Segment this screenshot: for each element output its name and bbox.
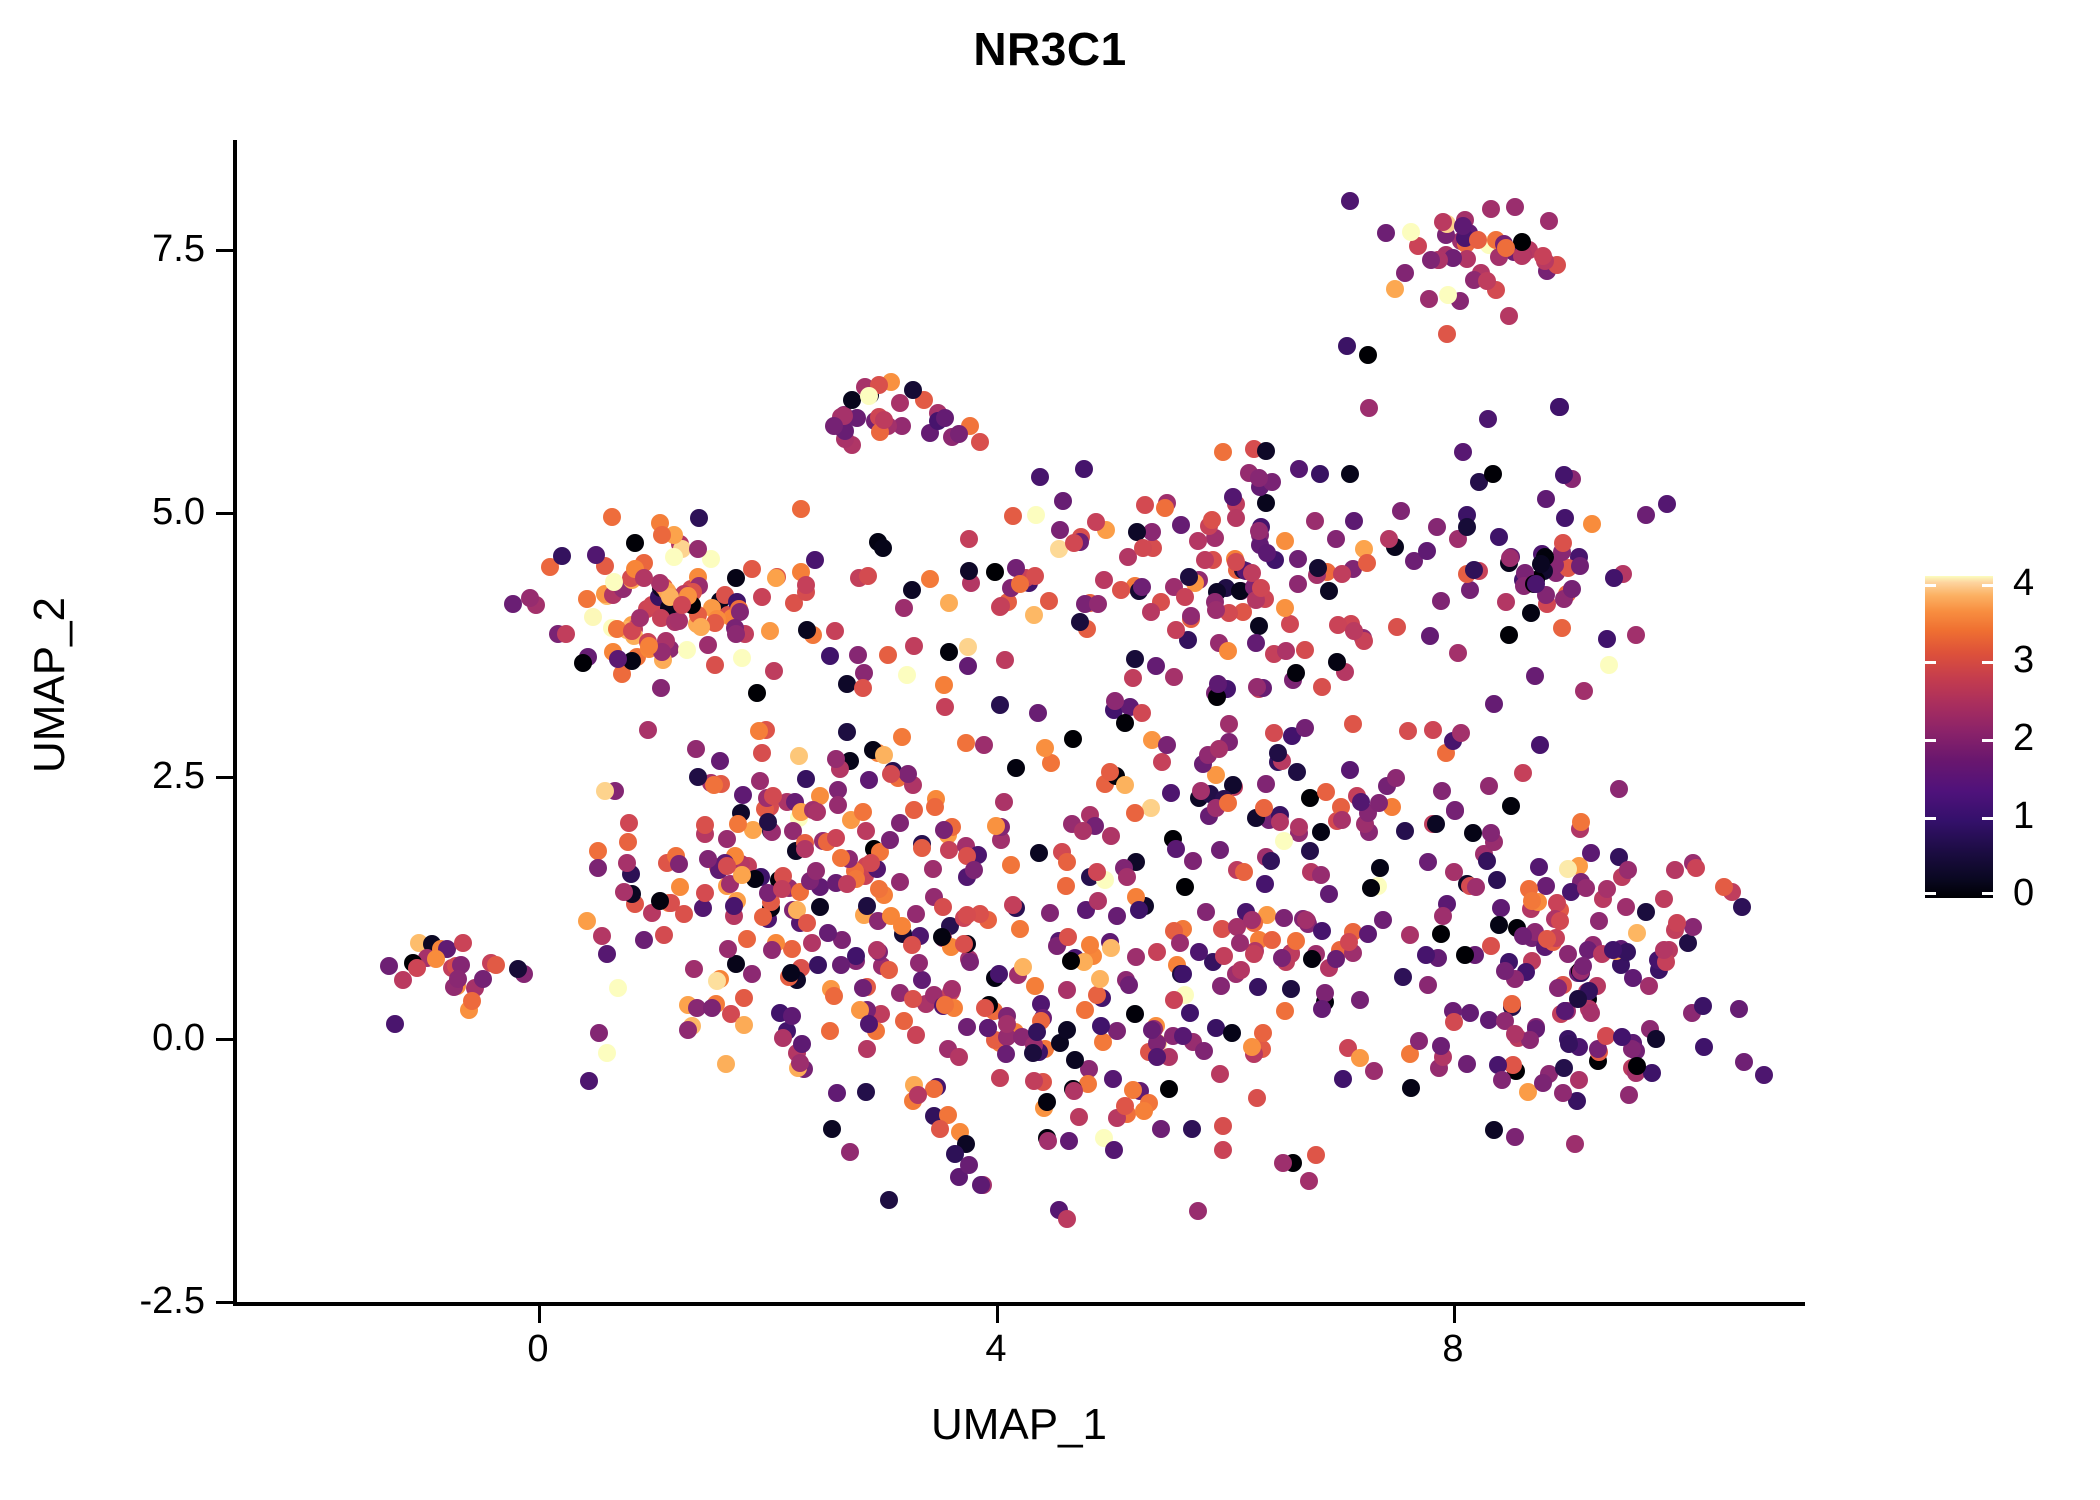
scatter-point — [1449, 644, 1467, 662]
scatter-point — [609, 979, 627, 997]
scatter-point — [620, 814, 638, 832]
scatter-point — [808, 803, 826, 821]
scatter-point — [1359, 925, 1377, 943]
scatter-point — [1365, 1062, 1383, 1080]
scatter-point — [1465, 561, 1483, 579]
scatter-point — [454, 934, 472, 952]
scatter-point — [1582, 1004, 1600, 1022]
scatter-point — [1540, 212, 1558, 230]
scatter-point — [1289, 550, 1307, 568]
scatter-point — [751, 772, 769, 790]
scatter-point — [759, 813, 777, 831]
scatter-point — [1133, 578, 1151, 596]
scatter-point — [1554, 534, 1572, 552]
scatter-point — [1112, 581, 1130, 599]
y-axis-tick-7.5 — [216, 249, 233, 252]
scatter-point — [1116, 776, 1134, 794]
scatter-point — [1136, 496, 1154, 514]
scatter-point — [1402, 1079, 1420, 1097]
scatter-point — [1289, 575, 1307, 593]
scatter-point — [1467, 878, 1485, 896]
scatter-point — [1051, 521, 1069, 539]
scatter-point — [1181, 1004, 1199, 1022]
colorbar-tick-0-right — [1982, 892, 1993, 895]
scatter-point — [1360, 399, 1378, 417]
scatter-point — [1345, 622, 1363, 640]
scatter-point — [474, 970, 492, 988]
scatter-point — [1167, 621, 1185, 639]
scatter-point — [1276, 1002, 1294, 1020]
scatter-point — [1461, 581, 1479, 599]
scatter-point — [1211, 1065, 1229, 1083]
scatter-point — [1502, 797, 1520, 815]
scatter-point — [841, 1143, 859, 1161]
scatter-point — [1530, 858, 1548, 876]
scatter-point — [631, 609, 649, 627]
scatter-point — [1640, 977, 1658, 995]
scatter-point — [1243, 1038, 1261, 1056]
scatter-point — [1309, 559, 1327, 577]
scatter-point — [1434, 213, 1452, 231]
scatter-point — [797, 770, 815, 788]
scatter-point — [1196, 551, 1214, 569]
scatter-point — [1488, 871, 1506, 889]
scatter-point — [921, 570, 939, 588]
scatter-point — [961, 953, 979, 971]
scatter-point — [905, 637, 923, 655]
scatter-point — [765, 662, 783, 680]
scatter-point — [1338, 337, 1356, 355]
scatter-point — [1214, 1141, 1232, 1159]
scatter-point — [1556, 509, 1574, 527]
scatter-point — [1287, 932, 1305, 950]
scatter-point — [1345, 512, 1363, 530]
scatter-point — [1482, 200, 1500, 218]
scatter-point — [1207, 1019, 1225, 1037]
scatter-point — [1105, 1141, 1123, 1159]
scatter-point — [860, 387, 878, 405]
scatter-point — [828, 1084, 846, 1102]
scatter-point — [1209, 675, 1227, 693]
scatter-point — [1313, 922, 1331, 940]
scatter-point — [1143, 523, 1161, 541]
scatter-point — [1387, 769, 1405, 787]
scatter-point — [825, 417, 843, 435]
scatter-point — [1275, 909, 1293, 927]
scatter-point — [1184, 852, 1202, 870]
scatter-point — [1075, 460, 1093, 478]
scatter-point — [854, 803, 872, 821]
x-axis-ticklabel-4: 4 — [936, 1328, 1056, 1371]
scatter-point — [958, 1018, 976, 1036]
scatter-point — [924, 860, 942, 878]
scatter-point — [1192, 782, 1210, 800]
scatter-point — [1288, 763, 1306, 781]
scatter-point — [1127, 948, 1145, 966]
scatter-point — [965, 861, 983, 879]
scatter-point — [905, 801, 923, 819]
scatter-point — [699, 636, 717, 654]
scatter-point — [1328, 653, 1346, 671]
scatter-point — [1320, 582, 1338, 600]
scatter-point — [798, 914, 816, 932]
scatter-point — [809, 956, 827, 974]
scatter-point — [934, 898, 952, 916]
scatter-point — [1500, 307, 1518, 325]
scatter-point — [1076, 1001, 1094, 1019]
scatter-point — [1296, 641, 1314, 659]
scatter-point — [733, 649, 751, 667]
scatter-point — [1341, 465, 1359, 483]
scatter-point — [823, 1120, 841, 1138]
scatter-point — [1445, 1013, 1463, 1031]
scatter-point — [1514, 927, 1532, 945]
scatter-point — [1370, 794, 1388, 812]
scatter-point — [986, 563, 1004, 581]
scatter-point — [1559, 945, 1577, 963]
scatter-point — [1658, 495, 1676, 513]
scatter-point — [703, 999, 721, 1017]
scatter-point — [690, 509, 708, 527]
scatter-point — [1610, 780, 1628, 798]
scatter-point — [1235, 863, 1253, 881]
scatter-point — [1250, 617, 1268, 635]
y-axis-line — [233, 140, 237, 1305]
scatter-point — [678, 641, 696, 659]
scatter-point — [903, 936, 921, 954]
scatter-point — [1637, 903, 1655, 921]
scatter-point — [743, 965, 761, 983]
scatter-point — [1130, 901, 1148, 919]
scatter-point — [1433, 782, 1451, 800]
scatter-point — [1026, 977, 1044, 995]
scatter-point — [860, 771, 878, 789]
scatter-point — [1428, 518, 1446, 536]
scatter-point — [1040, 592, 1058, 610]
scatter-point — [1380, 530, 1398, 548]
scatter-point — [1493, 1071, 1511, 1089]
scatter-point — [1281, 615, 1299, 633]
scatter-point — [1571, 557, 1589, 575]
scatter-point — [976, 999, 994, 1017]
scatter-point — [1158, 736, 1176, 754]
scatter-point — [1174, 965, 1192, 983]
scatter-point — [832, 849, 850, 867]
scatter-point — [1427, 815, 1445, 833]
scatter-point — [670, 612, 688, 630]
scatter-point — [1255, 799, 1273, 817]
scatter-point — [487, 956, 505, 974]
scatter-point — [727, 955, 745, 973]
scatter-point — [1396, 822, 1414, 840]
scatter-point — [1456, 946, 1474, 964]
scatter-point — [1089, 595, 1107, 613]
scatter-point — [1156, 499, 1174, 517]
scatter-point — [1203, 511, 1221, 529]
colorbar-legend[interactable]: 4 3 2 1 0 — [1925, 576, 1993, 898]
scatter-point — [673, 596, 691, 614]
scatter-point — [1162, 784, 1180, 802]
scatter-point — [1273, 949, 1291, 967]
scatter-point — [763, 941, 781, 959]
scatter-point — [1619, 861, 1637, 879]
scatter-point — [1148, 943, 1166, 961]
scatter-point — [1424, 721, 1442, 739]
scatter-point — [580, 1072, 598, 1090]
scatter-point — [1248, 1089, 1266, 1107]
scatter-point — [936, 698, 954, 716]
scatter-point — [958, 906, 976, 924]
scatter-point — [1282, 980, 1300, 998]
x-axis-ticklabel-0: 0 — [478, 1328, 598, 1371]
scatter-point — [589, 859, 607, 877]
scatter-point — [1118, 868, 1136, 886]
scatter-point — [1410, 1032, 1428, 1050]
scatter-point — [708, 972, 726, 990]
scatter-point — [1058, 1210, 1076, 1228]
scatter-point — [727, 625, 745, 643]
scatter-plot-panel[interactable] — [235, 140, 1805, 1303]
scatter-point — [729, 815, 747, 833]
scatter-point — [1215, 947, 1233, 965]
scatter-point — [1124, 669, 1142, 687]
scatter-point — [1392, 502, 1410, 520]
scatter-point — [858, 897, 876, 915]
scatter-point — [1262, 852, 1280, 870]
scatter-point — [854, 979, 872, 997]
scatter-point — [589, 842, 607, 860]
colorbar-tick-0-left — [1925, 892, 1936, 895]
scatter-point — [1497, 239, 1515, 257]
scatter-point — [1386, 280, 1404, 298]
scatter-point — [849, 646, 867, 664]
scatter-point — [1600, 656, 1618, 674]
scatter-point — [881, 831, 899, 849]
scatter-point — [1256, 875, 1274, 893]
scatter-point — [826, 622, 844, 640]
scatter-point — [1490, 528, 1508, 546]
scatter-point — [1359, 346, 1377, 364]
scatter-point — [665, 548, 683, 566]
scatter-point — [1574, 957, 1592, 975]
scatter-point — [1160, 1080, 1178, 1098]
y-axis-tick-0.0 — [216, 1038, 233, 1041]
scatter-point — [793, 1035, 811, 1053]
x-axis-tick-0 — [538, 1306, 541, 1323]
scatter-point — [1446, 801, 1464, 819]
scatter-point — [1334, 1070, 1352, 1088]
colorbar-label-1: 1 — [2013, 795, 2034, 838]
scatter-point — [898, 666, 916, 684]
scatter-point — [832, 956, 850, 974]
scatter-point — [761, 622, 779, 640]
scatter-point — [1604, 941, 1622, 959]
scatter-point — [959, 657, 977, 675]
scatter-point — [609, 650, 627, 668]
y-axis-ticklabel--2.5: -2.5 — [0, 1280, 205, 1323]
scatter-point — [803, 934, 821, 952]
scatter-point — [1031, 468, 1049, 486]
scatter-point — [603, 508, 621, 526]
scatter-point — [893, 728, 911, 746]
scatter-point — [1566, 1135, 1584, 1153]
scatter-point — [783, 1007, 801, 1025]
scatter-point — [598, 1044, 616, 1062]
scatter-point — [790, 747, 808, 765]
scatter-point — [1243, 911, 1261, 929]
scatter-point — [1374, 911, 1392, 929]
scatter-point — [767, 569, 785, 587]
scatter-point — [882, 765, 900, 783]
scatter-point — [1554, 1084, 1572, 1102]
scatter-point — [1250, 522, 1268, 540]
scatter-point — [990, 965, 1008, 983]
scatter-point — [1351, 1049, 1369, 1067]
scatter-point — [1172, 516, 1190, 534]
scatter-point — [1695, 1038, 1713, 1056]
scatter-point — [909, 1086, 927, 1104]
scatter-point — [1418, 542, 1436, 560]
scatter-point — [679, 1021, 697, 1039]
scatter-point — [1094, 1033, 1112, 1051]
scatter-point — [1464, 824, 1482, 842]
scatter-point — [1116, 1097, 1134, 1115]
scatter-point — [1165, 668, 1183, 686]
scatter-point — [1028, 1023, 1046, 1041]
scatter-point — [1167, 840, 1185, 858]
scatter-point — [1297, 911, 1315, 929]
scatter-point — [574, 654, 592, 672]
scatter-point — [907, 1026, 925, 1044]
scatter-point — [1313, 678, 1331, 696]
scatter-point — [1551, 912, 1569, 930]
scatter-point — [1534, 1074, 1552, 1092]
scatter-point — [1583, 515, 1601, 533]
scatter-point — [1126, 650, 1144, 668]
scatter-point — [1311, 465, 1329, 483]
scatter-point — [694, 899, 712, 917]
scatter-point — [1116, 714, 1134, 732]
scatter-point — [1590, 912, 1608, 930]
y-axis-title: UMAP_2 — [25, 335, 75, 1035]
scatter-point — [1165, 991, 1183, 1009]
scatter-point — [1755, 1066, 1773, 1084]
scatter-point — [1088, 986, 1106, 1004]
scatter-point — [509, 960, 527, 978]
scatter-point — [875, 411, 893, 429]
colorbar-tick-2-right — [1982, 739, 1993, 742]
scatter-point — [1637, 506, 1655, 524]
scatter-point — [590, 1024, 608, 1042]
scatter-point — [727, 569, 745, 587]
scatter-point — [798, 621, 816, 639]
scatter-point — [1081, 936, 1099, 954]
scatter-point — [1531, 736, 1549, 754]
scatter-point — [1263, 931, 1281, 949]
scatter-point — [1011, 575, 1029, 593]
scatter-point — [1153, 753, 1171, 771]
scatter-point — [811, 898, 829, 916]
scatter-point — [1102, 827, 1120, 845]
scatter-point — [880, 1191, 898, 1209]
colorbar-tick-3-left — [1925, 661, 1936, 664]
scatter-point — [408, 959, 426, 977]
scatter-point — [1341, 761, 1359, 779]
scatter-point — [1506, 1025, 1524, 1043]
scatter-point — [584, 608, 602, 626]
scatter-point — [943, 980, 961, 998]
scatter-point — [1057, 877, 1075, 895]
scatter-point — [773, 880, 791, 898]
scatter-point — [987, 817, 1005, 835]
scatter-point — [806, 551, 824, 569]
scatter-point — [380, 957, 398, 975]
x-axis-ticklabel-8: 8 — [1393, 1328, 1513, 1371]
scatter-point — [1478, 272, 1496, 290]
scatter-point — [1454, 443, 1472, 461]
scatter-point — [1195, 1042, 1213, 1060]
scatter-point — [1227, 509, 1245, 527]
scatter-point — [991, 1069, 1009, 1087]
scatter-point — [1563, 580, 1581, 598]
scatter-point — [1312, 866, 1330, 884]
scatter-point — [1276, 532, 1294, 550]
scatter-point — [996, 651, 1014, 669]
scatter-point — [1104, 1070, 1122, 1088]
x-axis-tick-4 — [996, 1306, 999, 1323]
scatter-point — [1624, 969, 1642, 987]
scatter-point — [935, 676, 953, 694]
scatter-point — [1730, 1000, 1748, 1018]
scatter-point — [635, 931, 653, 949]
scatter-point — [1506, 198, 1524, 216]
scatter-point — [718, 857, 736, 875]
scatter-point — [825, 987, 843, 1005]
scatter-point — [1485, 1121, 1503, 1139]
scatter-point — [615, 883, 633, 901]
scatter-point — [587, 546, 605, 564]
scatter-point — [940, 643, 958, 661]
scatter-point — [1327, 530, 1345, 548]
scatter-point — [1394, 968, 1412, 986]
scatter-point — [904, 990, 922, 1008]
scatter-point — [1454, 217, 1472, 235]
scatter-point — [1655, 890, 1673, 908]
scatter-point — [1327, 950, 1345, 968]
scatter-point — [719, 940, 737, 958]
scatter-point — [1211, 841, 1229, 859]
scatter-point — [1417, 946, 1435, 964]
scatter-point — [857, 822, 875, 840]
scatter-point — [992, 597, 1010, 615]
scatter-point — [1029, 704, 1047, 722]
scatter-point — [1320, 885, 1338, 903]
scatter-point — [753, 588, 771, 606]
scatter-point — [735, 989, 753, 1007]
scatter-point — [1553, 619, 1571, 637]
scatter-point — [1041, 904, 1059, 922]
scatter-point — [1092, 1017, 1110, 1035]
scatter-point — [1687, 859, 1705, 877]
scatter-point — [1340, 933, 1358, 951]
scatter-point — [913, 839, 931, 857]
scatter-point — [1577, 879, 1595, 897]
scatter-point — [670, 855, 688, 873]
scatter-point — [521, 589, 539, 607]
scatter-point — [1358, 554, 1376, 572]
scatter-point — [821, 647, 839, 665]
scatter-point — [1377, 224, 1395, 242]
